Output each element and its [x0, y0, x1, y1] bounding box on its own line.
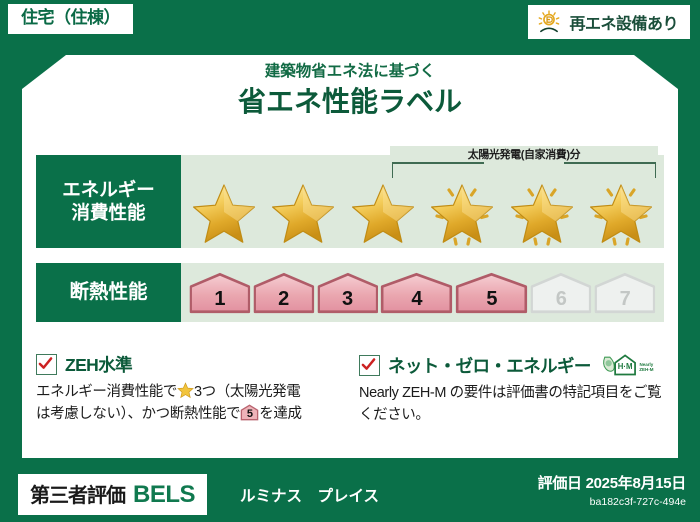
- insulation-row-body: 1 2: [181, 263, 664, 322]
- bels-jp-label: 第三者評価: [30, 479, 125, 508]
- energy-row-label: エネルギー 消費性能: [36, 155, 181, 248]
- insulation-grade-badge: 5: [455, 272, 528, 314]
- insulation-row-label-text: 断熱性能: [69, 281, 147, 305]
- checkbox-checked-icon: [36, 354, 57, 375]
- zeh-desc-part1: エネルギー消費性能で: [36, 384, 177, 400]
- insulation-grade-badge: 4: [380, 272, 453, 314]
- insulation-grade-badge: 3: [317, 272, 379, 314]
- criteria-section: ZEH水準 エネルギー消費性能で3つ（太陽光発電 は考慮しない）、かつ断熱性能で…: [36, 352, 664, 427]
- energy-row-label-line2: 消費性能: [71, 202, 145, 225]
- renewable-equipment-badge: 再エネ設備あり: [528, 5, 690, 39]
- sun-solar-icon: [536, 9, 562, 35]
- bels-en-label: BELS: [133, 481, 195, 509]
- zeh-standard-title: ZEH水準: [65, 352, 132, 377]
- insulation-grade-badge: 7: [594, 272, 656, 314]
- gold-star-icon: [266, 176, 340, 246]
- inline-house-badge-value: 5: [240, 404, 259, 421]
- renewable-badge-label: 再エネ設備あり: [569, 10, 678, 34]
- gold-star-icon: [505, 176, 579, 246]
- evaluation-date: 評価日 2025年8月15日: [538, 472, 686, 493]
- insulation-grade-badge: 6: [530, 272, 592, 314]
- zeh-desc-star-text: 3つ（太陽光発電: [194, 384, 300, 400]
- gold-star-icon: [346, 176, 420, 246]
- energy-star-rating: [187, 175, 658, 246]
- evaluation-meta: 評価日 2025年8月15日 ba182c3f-727c-494e: [538, 472, 686, 508]
- building-type-tag: 住宅（住棟）: [8, 4, 133, 34]
- net-zero-heading: ネット・ゼロ・エネルギー H·M Nearly ZEH-M: [359, 352, 664, 378]
- svg-text:ZEH-M: ZEH-M: [639, 367, 653, 372]
- inline-house-badge-icon: 5: [240, 404, 259, 421]
- label-footer: 第三者評価 BELS ルミナス プレイス 評価日 2025年8月15日 ba18…: [0, 464, 700, 522]
- energy-row-label-line1: エネルギー: [62, 179, 155, 202]
- insulation-grade-badge: 1: [189, 272, 251, 314]
- energy-label-card: 住宅（住棟） 再エネ設備あり 建築物省エネ法: [0, 0, 700, 522]
- svg-text:H·M: H·M: [618, 362, 633, 371]
- zeh-desc-part2: は考慮しない）、かつ断熱性能で: [36, 406, 240, 422]
- gold-star-icon: [584, 176, 658, 246]
- checkbox-checked-icon: [359, 355, 380, 376]
- solar-bracket-label: 太陽光発電(自家消費)分: [390, 146, 658, 162]
- title-main: 省エネ性能ラベル: [0, 88, 700, 116]
- net-zero-energy-block: ネット・ゼロ・エネルギー H·M Nearly ZEH-M Nearly ZEH…: [359, 352, 664, 427]
- net-zero-title: ネット・ゼロ・エネルギー: [388, 353, 591, 378]
- zeh-standard-heading: ZEH水準: [36, 352, 341, 377]
- svg-text:Nearly: Nearly: [639, 362, 653, 367]
- evaluation-id: ba182c3f-727c-494e: [538, 496, 686, 508]
- solar-generation-bracket: 太陽光発電(自家消費)分: [390, 157, 658, 179]
- zeh-standard-block: ZEH水準 エネルギー消費性能で3つ（太陽光発電 は考慮しない）、かつ断熱性能で…: [36, 352, 341, 427]
- net-zero-description: Nearly ZEH-M の要件は評価書の特記項目をご覧ください。: [359, 383, 664, 427]
- insulation-performance-row: 断熱性能 1: [36, 263, 664, 322]
- bels-logo: 第三者評価 BELS: [18, 474, 207, 515]
- insulation-row-label: 断熱性能: [36, 263, 181, 322]
- energy-row-body: 太陽光発電(自家消費)分: [181, 155, 664, 248]
- insulation-grade-scale: 1 2: [181, 263, 664, 322]
- insulation-grade-badge: 2: [253, 272, 315, 314]
- gold-star-icon: [425, 176, 499, 246]
- zeh-desc-part3: を達成: [259, 406, 301, 422]
- building-name: ルミナス プレイス: [240, 484, 379, 506]
- energy-performance-row: エネルギー 消費性能 太陽光発電(自家消費)分: [36, 155, 664, 248]
- zeh-m-logo-icon: H·M Nearly ZEH-M: [599, 352, 657, 378]
- inline-star-icon: [177, 382, 194, 399]
- gold-star-icon: [187, 176, 261, 246]
- label-title-block: 建築物省エネ法に基づく 省エネ性能ラベル: [0, 64, 700, 116]
- title-subtitle: 建築物省エネ法に基づく: [0, 64, 700, 80]
- zeh-standard-description: エネルギー消費性能で3つ（太陽光発電 は考慮しない）、かつ断熱性能で5を達成: [36, 382, 341, 426]
